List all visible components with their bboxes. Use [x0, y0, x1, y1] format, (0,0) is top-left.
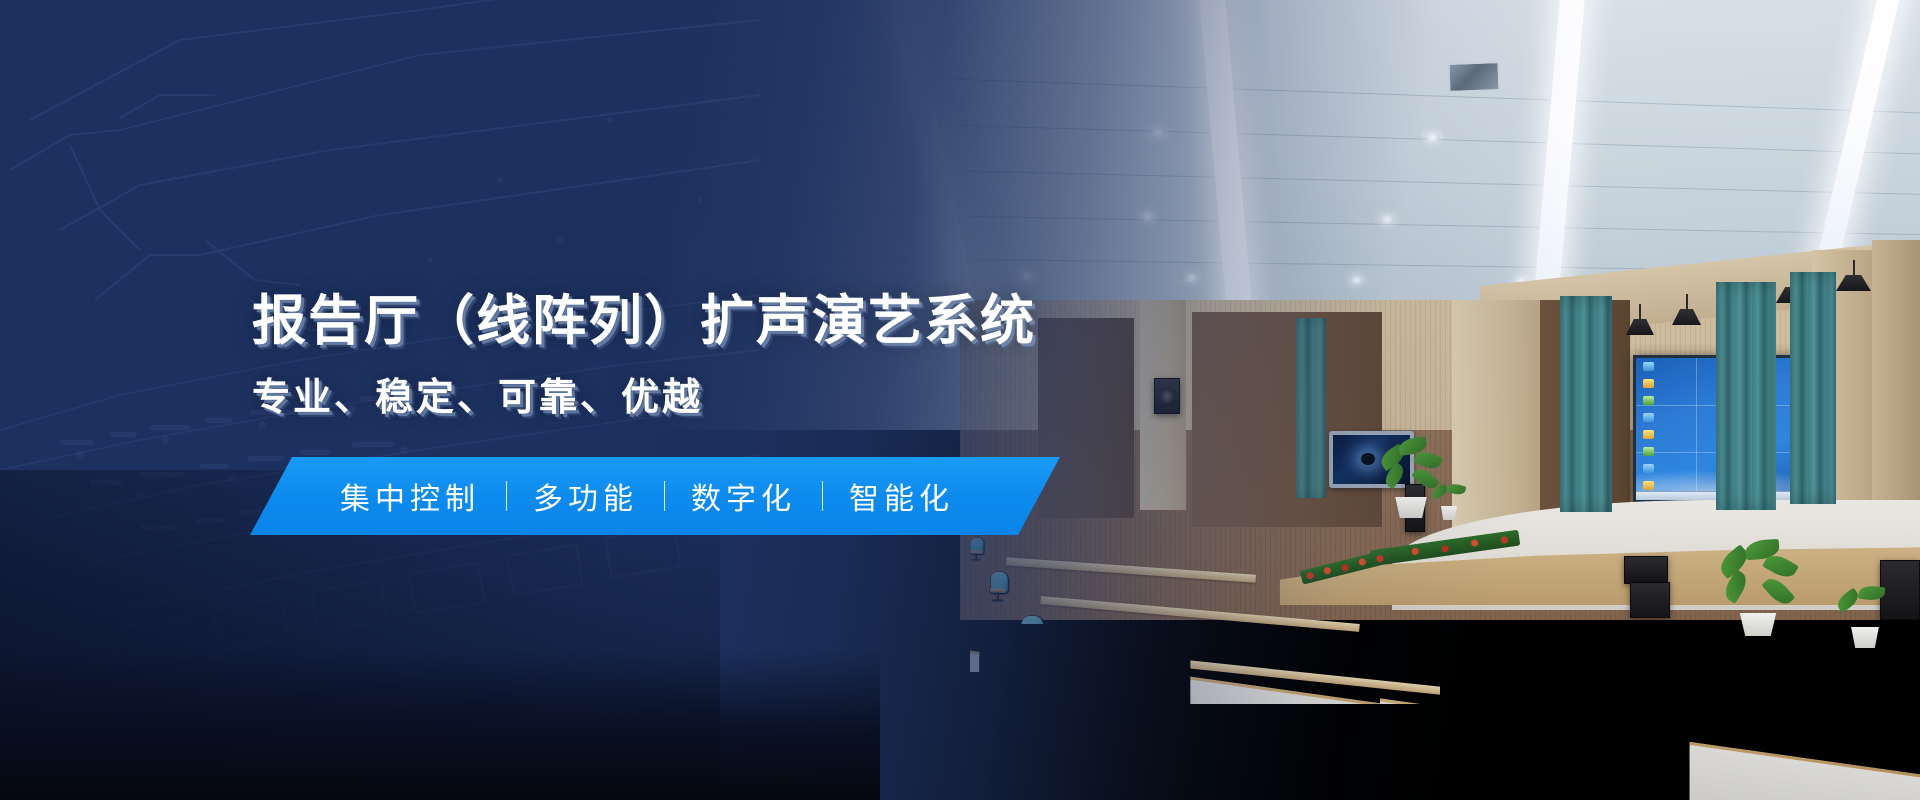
banner-subheadline: 专业、稳定、可靠、优越	[252, 366, 703, 421]
feature-tag-list: 集中控制 多功能 数字化 智能化	[340, 474, 954, 518]
feature-tag-3: 数字化	[691, 474, 796, 518]
banner-content: 报告厅（线阵列）扩声演艺系统 专业、稳定、可靠、优越 集中控制 多功能 数字化 …	[0, 0, 1920, 800]
tag-separator	[506, 481, 507, 511]
feature-tag-bar: 集中控制 多功能 数字化 智能化	[250, 457, 1060, 535]
hero-banner: 报告厅（线阵列）扩声演艺系统 专业、稳定、可靠、优越 集中控制 多功能 数字化 …	[0, 0, 1920, 800]
feature-tag-4: 智能化	[849, 474, 954, 518]
banner-headline: 报告厅（线阵列）扩声演艺系统	[252, 276, 1036, 355]
feature-tag-2: 多功能	[533, 474, 638, 518]
tag-separator	[822, 481, 823, 511]
tag-separator	[664, 481, 665, 511]
feature-tag-1: 集中控制	[340, 474, 480, 518]
